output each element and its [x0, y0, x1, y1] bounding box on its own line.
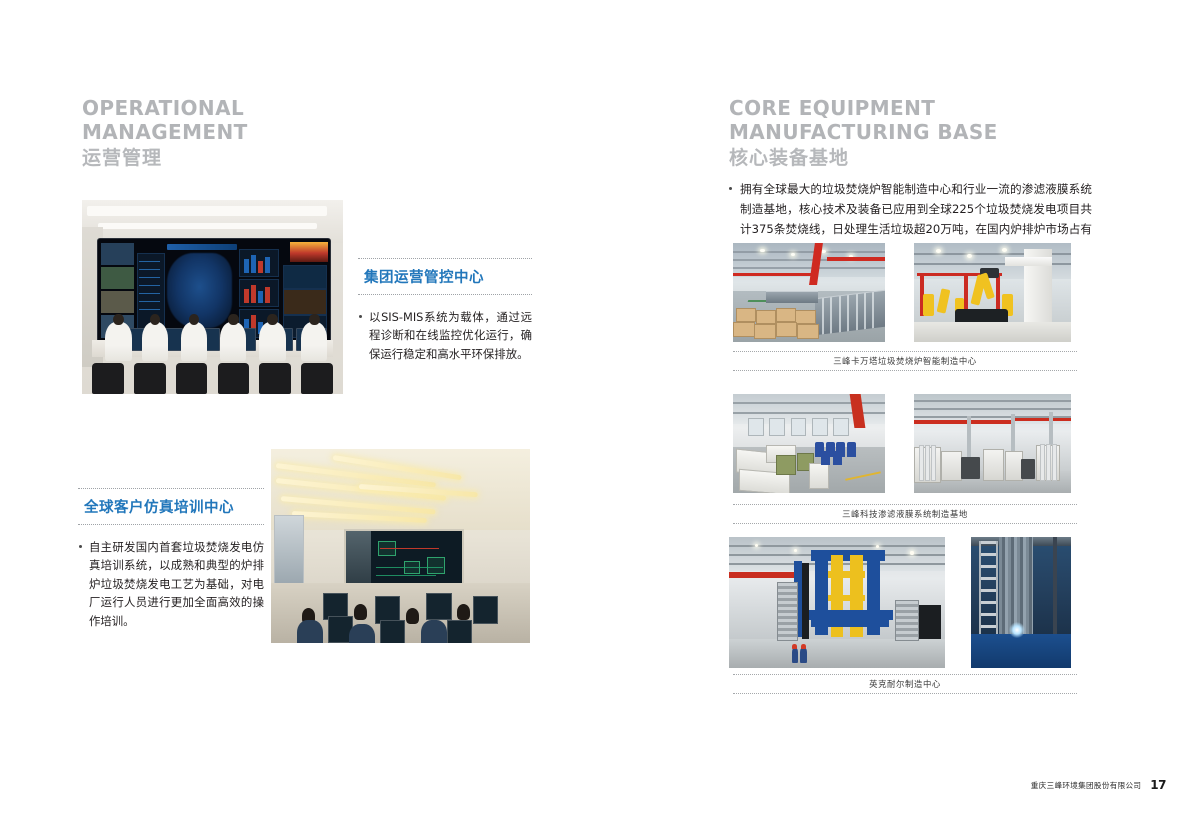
- pump-unit: [961, 457, 980, 479]
- stacked-block: [756, 310, 776, 324]
- worker: [800, 648, 806, 662]
- roof-truss: [914, 400, 1071, 402]
- photo-training-room: [271, 449, 530, 643]
- ceiling-lamp: [936, 249, 941, 253]
- welding-scene: [971, 537, 1071, 668]
- conveyor-roller: [872, 292, 874, 328]
- chart-bar: [244, 289, 249, 303]
- data-row: [139, 261, 160, 262]
- pressure-vessel: [1040, 444, 1045, 482]
- photo-control-room: [82, 200, 343, 394]
- conveyor-roller: [830, 298, 832, 334]
- section-heading-operational-management: OPERATIONAL MANAGEMENT 运营管理: [82, 98, 248, 168]
- pressure-vessel: [925, 445, 930, 481]
- ceiling-lamp: [967, 254, 972, 258]
- process-block: [404, 561, 420, 575]
- stacked-block: [797, 324, 819, 339]
- thermal-image-tile: [290, 242, 327, 262]
- block-global-customer-simulation-training-center: 全球客户仿真培训中心 自主研发国内首套垃圾焚烧发电仿真培训系统，以成熟和典型的炉…: [78, 488, 264, 630]
- block-title: 集团运营管控中心: [358, 259, 532, 294]
- divider-bottom: [78, 524, 264, 525]
- pressure-vessel: [1046, 444, 1051, 482]
- chart-bar: [258, 291, 263, 303]
- white-gantry-arm: [1005, 257, 1052, 266]
- stacked-block: [733, 322, 755, 337]
- wall-window: [791, 418, 807, 436]
- heading-english-line1: OPERATIONAL: [82, 96, 244, 120]
- crane-beam: [729, 572, 802, 577]
- process-line: [376, 575, 437, 576]
- transfer-table: [766, 291, 818, 304]
- photo-hydraulic-press-machine: [729, 537, 945, 668]
- crane-beam: [914, 420, 1011, 424]
- photo-membrane-skid-line: [914, 394, 1071, 493]
- heading-english: CORE EQUIPMENT MANUFACTURING BASE: [729, 98, 998, 142]
- wall-window: [748, 418, 764, 436]
- block-body: 以SIS-MIS系统为载体，通过远程诊断和在线监控优化运行，确保运行稳定和高水平…: [358, 308, 532, 363]
- office-chair: [92, 363, 123, 394]
- control-room-scene: [82, 200, 343, 394]
- blue-machine-body: [971, 634, 1071, 668]
- video-wall: [98, 239, 330, 340]
- chart-bar: [244, 259, 249, 273]
- worker: [792, 648, 798, 662]
- roof-truss: [733, 402, 885, 404]
- plate-stack: [777, 582, 798, 642]
- student-monitor: [426, 593, 451, 620]
- press-scene: [729, 537, 945, 668]
- block-title: 全球客户仿真培训中心: [78, 489, 264, 524]
- conveyor-roller: [856, 295, 858, 331]
- data-row: [139, 309, 160, 310]
- ceiling-light-strip: [98, 223, 317, 229]
- roof-truss: [733, 251, 885, 253]
- student-monitor: [473, 596, 498, 623]
- robot-base: [923, 294, 934, 316]
- press-cross-member: [828, 571, 865, 578]
- chart-bar: [265, 287, 270, 303]
- heading-chinese: 运营管理: [82, 149, 248, 168]
- conveyor-roller: [864, 294, 866, 330]
- trainee-body: [349, 624, 375, 643]
- brochure-page: OPERATIONAL MANAGEMENT 运营管理: [0, 0, 1204, 821]
- photo-factory-conveyor-line: [733, 243, 885, 342]
- trainee-body: [421, 620, 447, 643]
- press-bed: [811, 620, 889, 628]
- crane-beam: [827, 257, 885, 261]
- section-heading-core-equipment: CORE EQUIPMENT MANUFACTURING BASE 核心装备基地: [729, 98, 998, 168]
- camera-feed-tile: [101, 291, 134, 313]
- trainee-head: [406, 608, 419, 624]
- trainee-head: [457, 604, 470, 620]
- roof-truss: [733, 267, 885, 269]
- operator-person: [105, 322, 131, 361]
- skid-line-scene: [914, 394, 1071, 493]
- crane-beam: [733, 273, 815, 276]
- chart-bar: [251, 285, 256, 303]
- camera-feed-tile: [101, 243, 134, 265]
- operator-person: [301, 322, 327, 361]
- membrane-skid: [983, 449, 1004, 481]
- camera-feed-tile: [101, 267, 134, 289]
- china-map-visual: [167, 253, 232, 328]
- ceiling-lamp: [910, 551, 913, 554]
- pump-unit: [1021, 459, 1035, 479]
- membrane-workshop-scene: [733, 394, 885, 493]
- data-row: [139, 269, 160, 270]
- office-chair: [176, 363, 207, 394]
- photo-welding-arc-closeup: [971, 537, 1071, 668]
- pressure-vessel: [931, 445, 936, 481]
- heading-english-line1: CORE EQUIPMENT: [729, 96, 935, 120]
- photo-robot-welding-cell: [914, 243, 1071, 342]
- ceiling-lamp: [1002, 248, 1007, 252]
- welding-arc-flash: [1009, 622, 1025, 638]
- heading-english-line2: MANUFACTURING BASE: [729, 122, 998, 142]
- heading-english: OPERATIONAL MANAGEMENT: [82, 98, 248, 142]
- photo-membrane-container-workshop: [733, 394, 885, 493]
- ceiling-light-strip: [87, 206, 327, 216]
- red-frame-post: [996, 273, 1000, 315]
- operator-person: [181, 322, 207, 361]
- blue-equipment: [847, 442, 856, 458]
- roof-truss: [729, 545, 945, 547]
- floor: [914, 322, 1071, 342]
- operator-person: [220, 322, 246, 361]
- roof-truss: [914, 408, 1071, 410]
- chart-bar: [258, 261, 263, 273]
- office-chair: [259, 363, 290, 394]
- robot-cell-scene: [914, 243, 1071, 342]
- membrane-skid: [941, 451, 962, 481]
- chart-bar: [251, 255, 256, 273]
- side-video-panel: [283, 289, 327, 315]
- press-cross-member: [828, 595, 865, 602]
- stacked-block: [795, 310, 815, 324]
- factory-scene: [733, 243, 885, 342]
- figure-caption-3: 英克耐尔制造中心: [733, 674, 1077, 694]
- projection-screen: [344, 529, 465, 591]
- press-platen: [807, 610, 893, 619]
- wall-window: [769, 418, 785, 436]
- window: [274, 515, 304, 587]
- stacked-block: [776, 308, 796, 322]
- stacked-block: [754, 324, 776, 339]
- office-chair: [134, 363, 165, 394]
- operator-person: [142, 322, 168, 361]
- pressure-vessel: [1052, 444, 1057, 482]
- data-row: [139, 301, 160, 302]
- block-group-operation-control-center: 集团运营管控中心 以SIS-MIS系统为载体，通过远程诊断和在线监控优化运行，确…: [358, 258, 532, 363]
- heading-english-line2: MANAGEMENT: [82, 122, 248, 142]
- figure-caption-2: 三峰科技渗滤液膜系统制造基地: [733, 504, 1077, 524]
- stacked-block: [776, 322, 798, 337]
- office-chair: [218, 363, 249, 394]
- alarm-line: [380, 548, 438, 549]
- figure-caption-1: 三峰卡万塔垃圾焚烧炉智能制造中心: [733, 351, 1077, 371]
- data-row: [139, 293, 160, 294]
- robot-arm: [937, 288, 951, 313]
- office-chair: [301, 363, 332, 394]
- pressure-vessel: [919, 445, 924, 481]
- heading-chinese: 核心装备基地: [729, 149, 998, 168]
- blue-equipment: [821, 451, 830, 465]
- floor: [729, 639, 945, 668]
- trainee-head: [354, 604, 367, 620]
- side-data-panel: [283, 265, 327, 289]
- page-number: 17: [1150, 778, 1166, 792]
- forklift-truck: [919, 605, 941, 639]
- data-row: [139, 277, 160, 278]
- student-monitor: [447, 620, 472, 643]
- camera-feed-region: [346, 531, 372, 589]
- block-body: 自主研发国内首套垃圾焚烧发电仿真培训系统，以成熟和典型的炉排炉垃圾焚烧发电工艺为…: [78, 538, 264, 630]
- conveyor-roller: [839, 297, 841, 333]
- operator-person: [259, 322, 285, 361]
- data-row: [139, 285, 160, 286]
- divider-bottom: [358, 294, 532, 295]
- blue-equipment: [833, 451, 842, 465]
- wall-window: [833, 418, 849, 436]
- stacked-block: [736, 308, 756, 322]
- company-name: 重庆三峰环境集团股份有限公司: [1031, 780, 1142, 791]
- wall-window: [812, 418, 828, 436]
- conveyor-roller: [822, 299, 824, 335]
- equipment-cabinet: [809, 463, 829, 489]
- trainee-body: [297, 620, 323, 643]
- conveyor-roller: [847, 296, 849, 332]
- crane-beam: [1011, 418, 1071, 421]
- plate-stack: [895, 600, 919, 641]
- ceiling-lamp: [755, 544, 758, 547]
- training-room-scene: [271, 449, 530, 643]
- process-skid: [776, 455, 796, 475]
- page-footer: 重庆三峰环境集团股份有限公司 17: [1031, 778, 1166, 792]
- guide-rail: [802, 563, 808, 639]
- student-monitor: [380, 620, 405, 643]
- process-line: [376, 567, 444, 568]
- chart-bar: [265, 257, 270, 273]
- video-wall-title-bar: [167, 244, 237, 250]
